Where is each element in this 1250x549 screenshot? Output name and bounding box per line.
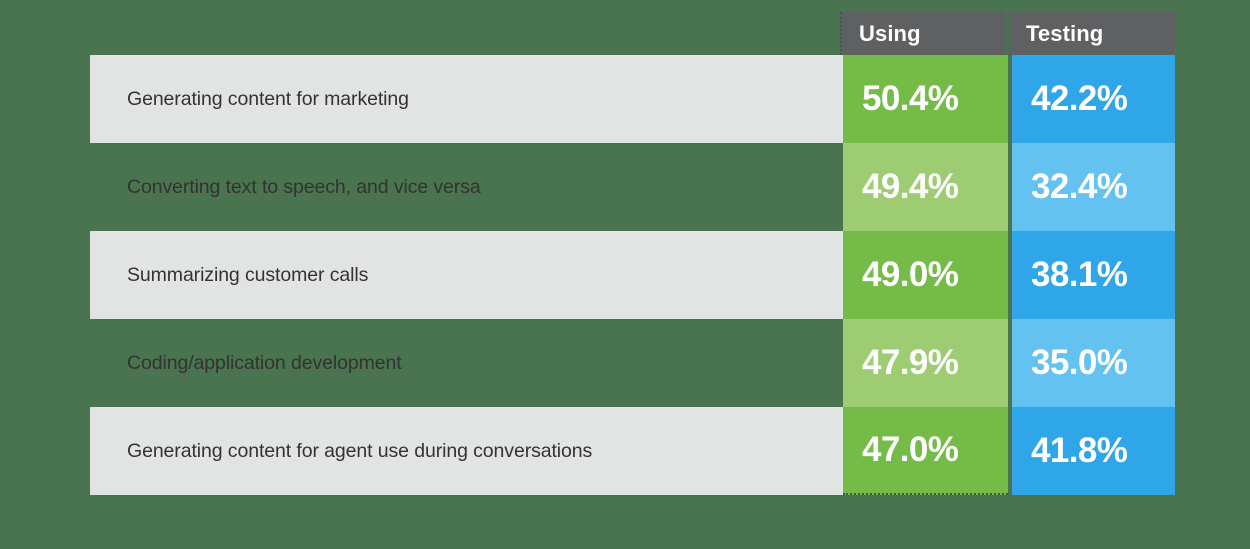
table-row: Generating content for marketing 50.4% 4… [90,55,1175,143]
row-label: Generating content for agent use during … [90,407,843,495]
row-label: Coding/application development [90,319,843,407]
cell-testing: 35.0% [1012,319,1175,407]
column-header-using: Using [840,12,1005,55]
row-label: Converting text to speech, and vice vers… [90,143,843,231]
cell-testing: 41.8% [1012,407,1175,495]
table-header: Using Testing [840,12,1175,55]
table-row: Coding/application development 47.9% 35.… [90,319,1175,407]
row-label: Generating content for marketing [90,55,843,143]
table-row: Converting text to speech, and vice vers… [90,143,1175,231]
cell-using: 50.4% [843,55,1008,143]
cell-using: 49.4% [843,143,1008,231]
cell-using: 47.0% [843,407,1008,495]
table-row: Summarizing customer calls 49.0% 38.1% [90,231,1175,319]
cell-testing: 38.1% [1012,231,1175,319]
comparison-table: Using Testing Generating content for mar… [0,0,1250,549]
column-header-testing: Testing [1009,12,1175,55]
table-row: Generating content for agent use during … [90,407,1175,495]
cell-testing: 32.4% [1012,143,1175,231]
cell-using: 47.9% [843,319,1008,407]
cell-testing: 42.2% [1012,55,1175,143]
row-label: Summarizing customer calls [90,231,843,319]
cell-using: 49.0% [843,231,1008,319]
